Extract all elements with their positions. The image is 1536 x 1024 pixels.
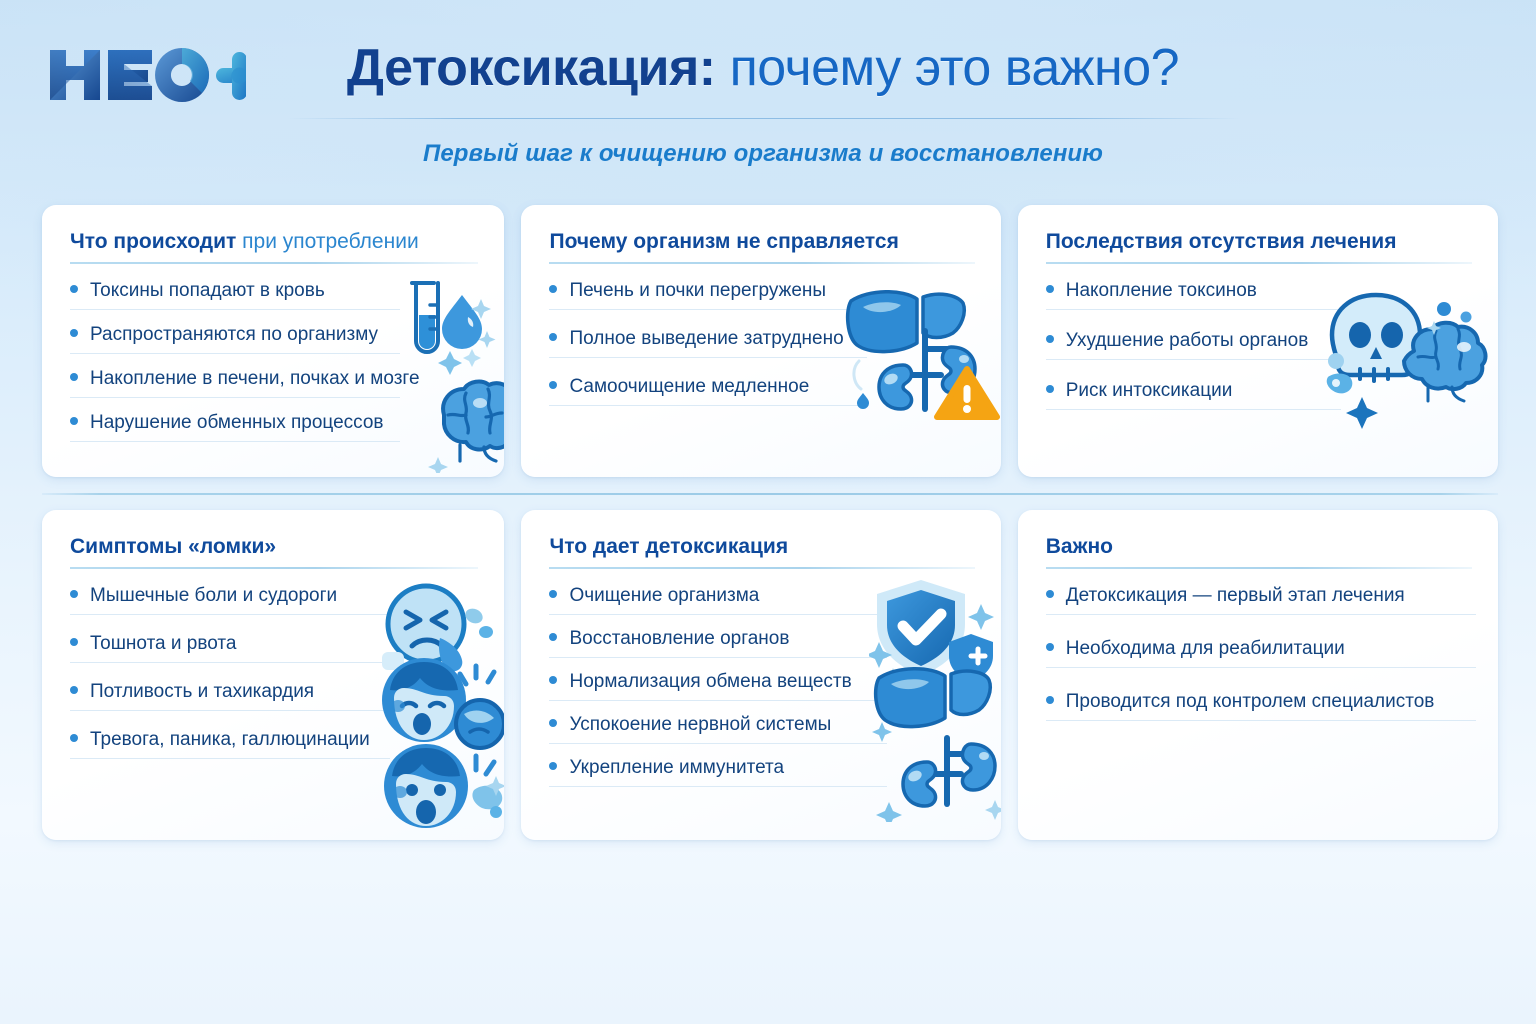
bullet-icon bbox=[1046, 590, 1054, 598]
cards-row-bottom: Симптомы «ломки» Мышечные боли и судорог… bbox=[42, 510, 1498, 840]
card-item-list: Мышечные боли и судороги Тошнота и рвота… bbox=[70, 584, 480, 776]
list-item[interactable]: Риск интоксикации bbox=[1046, 379, 1341, 410]
bullet-icon bbox=[549, 762, 557, 770]
card-header: Что происходит при употреблении bbox=[70, 229, 478, 255]
list-item[interactable]: Очищение организма bbox=[549, 584, 887, 615]
card-what-happens[interactable]: Что происходит при употреблении Токсины … bbox=[42, 205, 504, 477]
list-item[interactable]: Проводится под контролем специалистов bbox=[1046, 690, 1476, 721]
list-item-label: Потливость и тахикардия bbox=[90, 680, 314, 704]
bullet-icon bbox=[70, 686, 78, 694]
bullet-icon bbox=[70, 417, 78, 425]
card-why-body-fails[interactable]: Почему организм не справляется Печень и … bbox=[521, 205, 1000, 477]
bullet-icon bbox=[70, 329, 78, 337]
list-item-label: Токсины попадают в кровь bbox=[90, 279, 325, 303]
bullet-icon bbox=[70, 590, 78, 598]
page-title-light: почему это важно? bbox=[716, 39, 1179, 97]
list-item-label: Мышечные боли и судороги bbox=[90, 584, 337, 608]
list-item[interactable]: Успокоение нервной системы bbox=[549, 713, 887, 744]
list-item[interactable]: Накопление в печени, почках и мозге bbox=[70, 367, 400, 398]
bullet-icon bbox=[1046, 385, 1054, 393]
list-item-label: Тревога, паника, галлюцинации bbox=[90, 728, 370, 752]
card-header-divider bbox=[1046, 567, 1472, 569]
list-item[interactable]: Нормализация обмена веществ bbox=[549, 670, 887, 701]
card-header-divider bbox=[70, 262, 478, 264]
list-item[interactable]: Накопление токсинов bbox=[1046, 279, 1341, 310]
list-item-label: Ухудшение работы органов bbox=[1066, 329, 1309, 353]
card-detox-benefits[interactable]: Что дает детоксикация Очищение организма… bbox=[521, 510, 1000, 840]
bullet-icon bbox=[549, 633, 557, 641]
list-item-label: Риск интоксикации bbox=[1066, 379, 1233, 403]
list-item-label: Печень и почки перегружены bbox=[569, 279, 826, 303]
list-item-label: Восстановление органов bbox=[569, 627, 789, 651]
bullet-icon bbox=[549, 590, 557, 598]
bullet-icon bbox=[1046, 335, 1054, 343]
bullet-icon bbox=[549, 676, 557, 684]
cards-row-top: Что происходит при употреблении Токсины … bbox=[42, 205, 1498, 477]
list-item-label: Укрепление иммунитета bbox=[569, 756, 784, 780]
list-item-label: Нормализация обмена веществ bbox=[569, 670, 851, 694]
list-item-label: Полное выведение затруднено bbox=[569, 327, 843, 351]
list-item-label: Накопление токсинов bbox=[1066, 279, 1257, 303]
card-header-divider bbox=[549, 567, 974, 569]
list-item[interactable]: Распространяются по организму bbox=[70, 323, 400, 354]
list-item-label: Нарушение обменных процессов bbox=[90, 411, 384, 435]
card-header-bold: Почему организм не справляется bbox=[549, 230, 898, 253]
card-header: Симптомы «ломки» bbox=[70, 534, 478, 560]
card-header: Что дает детоксикация bbox=[549, 534, 974, 560]
card-header-divider bbox=[70, 567, 478, 569]
bullet-icon bbox=[549, 719, 557, 727]
list-item[interactable]: Мышечные боли и судороги bbox=[70, 584, 390, 615]
bullet-icon bbox=[70, 373, 78, 381]
list-item[interactable]: Тревога, паника, галлюцинации bbox=[70, 728, 390, 759]
card-header-divider bbox=[549, 262, 974, 264]
card-item-list: Детоксикация — первый этап лечения Необх… bbox=[1046, 584, 1474, 743]
list-item-label: Проводится под контролем специалистов bbox=[1066, 690, 1435, 714]
list-item[interactable]: Потливость и тахикардия bbox=[70, 680, 390, 711]
list-item[interactable]: Нарушение обменных процессов bbox=[70, 411, 400, 442]
card-item-list: Печень и почки перегружены Полное выведе… bbox=[549, 279, 976, 423]
card-header-bold: Важно bbox=[1046, 535, 1113, 558]
row-divider bbox=[42, 493, 1498, 495]
card-header: Почему организм не справляется bbox=[549, 229, 974, 255]
list-item-label: Очищение организма bbox=[569, 584, 759, 608]
list-item-label: Тошнота и рвота bbox=[90, 632, 236, 656]
page-title: Детоксикация: почему это важно? bbox=[278, 38, 1248, 98]
list-item[interactable]: Необходима для реабилитации bbox=[1046, 637, 1476, 668]
page-subtitle: Первый шаг к очищению организма и восста… bbox=[278, 140, 1248, 168]
bullet-icon bbox=[549, 333, 557, 341]
list-item[interactable]: Ухудшение работы органов bbox=[1046, 329, 1341, 360]
page-title-bold: Детоксикация: bbox=[347, 39, 716, 97]
card-header: Важно bbox=[1046, 534, 1472, 560]
card-item-list: Очищение организма Восстановление органо… bbox=[549, 584, 976, 799]
card-header-light: при употреблении bbox=[236, 230, 418, 253]
card-header-bold: Что происходит bbox=[70, 230, 236, 253]
bullet-icon bbox=[70, 734, 78, 742]
list-item[interactable]: Укрепление иммунитета bbox=[549, 756, 887, 787]
list-item-label: Детоксикация — первый этап лечения bbox=[1066, 584, 1405, 608]
title-divider bbox=[288, 118, 1240, 119]
cards-grid: Что происходит при употреблении Токсины … bbox=[42, 205, 1498, 845]
bullet-icon bbox=[1046, 285, 1054, 293]
list-item[interactable]: Детоксикация — первый этап лечения bbox=[1046, 584, 1476, 615]
list-item-label: Самоочищение медленное bbox=[569, 375, 809, 399]
list-item[interactable]: Самоочищение медленное bbox=[549, 375, 867, 406]
list-item[interactable]: Печень и почки перегружены bbox=[549, 279, 867, 310]
list-item[interactable]: Тошнота и рвота bbox=[70, 632, 390, 663]
card-header-bold: Симптомы «ломки» bbox=[70, 535, 276, 558]
bullet-icon bbox=[70, 638, 78, 646]
card-withdrawal-symptoms[interactable]: Симптомы «ломки» Мышечные боли и судорог… bbox=[42, 510, 504, 840]
list-item[interactable]: Полное выведение затруднено bbox=[549, 327, 867, 358]
card-header: Последствия отсутствия лечения bbox=[1046, 229, 1472, 255]
card-header-bold: Что дает детоксикация bbox=[549, 535, 788, 558]
card-consequences[interactable]: Последствия отсутствия лечения Накоплени… bbox=[1018, 205, 1498, 477]
bullet-icon bbox=[70, 285, 78, 293]
card-item-list: Накопление токсинов Ухудшение работы орг… bbox=[1046, 279, 1474, 429]
neo-plus-logo bbox=[46, 44, 246, 106]
card-item-list: Токсины попадают в кровь Распространяютс… bbox=[70, 279, 480, 455]
list-item-label: Успокоение нервной системы bbox=[569, 713, 831, 737]
list-item[interactable]: Восстановление органов bbox=[549, 627, 887, 658]
bullet-icon bbox=[549, 381, 557, 389]
list-item-label: Необходима для реабилитации bbox=[1066, 637, 1345, 661]
list-item[interactable]: Токсины попадают в кровь bbox=[70, 279, 400, 310]
card-header-bold: Последствия отсутствия лечения bbox=[1046, 230, 1397, 253]
list-item-label: Накопление в печени, почках и мозге bbox=[90, 367, 420, 391]
bullet-icon bbox=[1046, 696, 1054, 704]
list-item-label: Распространяются по организму bbox=[90, 323, 378, 347]
bullet-icon bbox=[549, 285, 557, 293]
bullet-icon bbox=[1046, 643, 1054, 651]
card-important[interactable]: Важно Детоксикация — первый этап лечения… bbox=[1018, 510, 1498, 840]
card-header-divider bbox=[1046, 262, 1472, 264]
page-header: Детоксикация: почему это важно? Первый ш… bbox=[0, 0, 1536, 190]
